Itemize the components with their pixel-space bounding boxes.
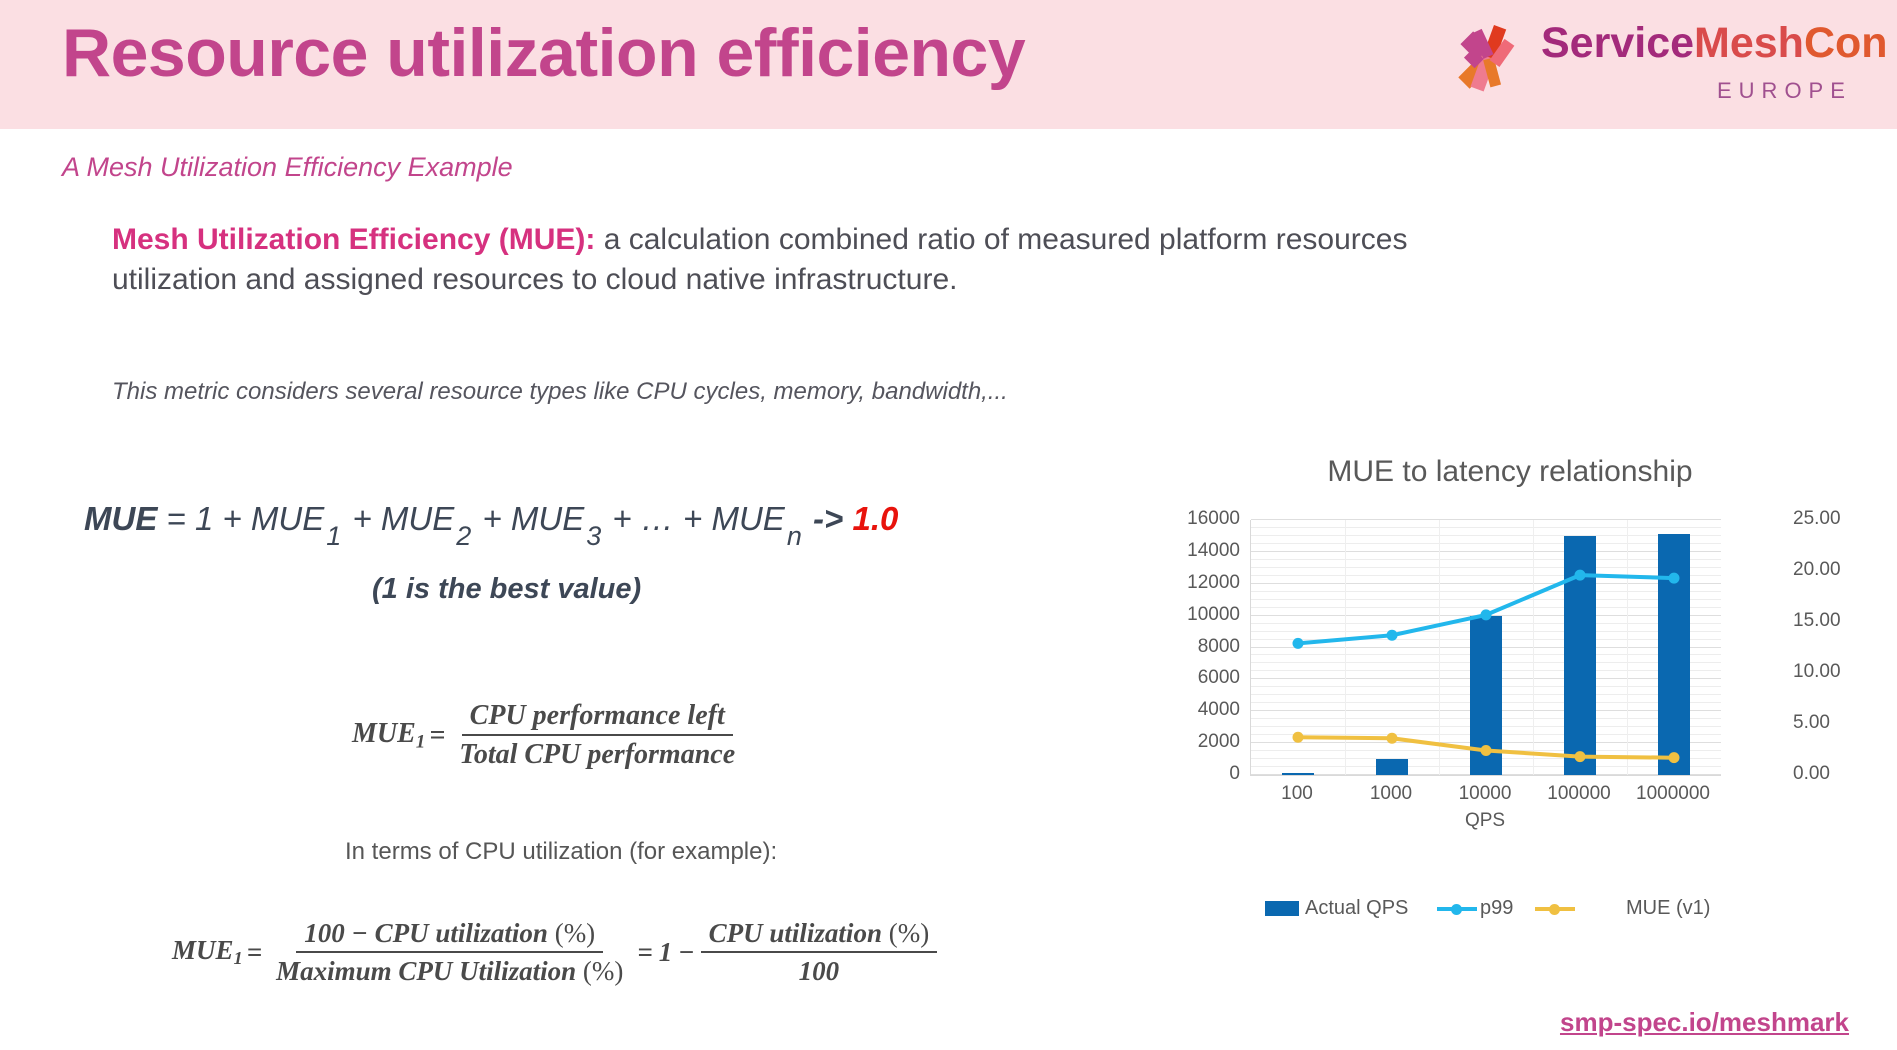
eq-util-fraction-2: CPU utilization (%) 100 xyxy=(701,918,938,987)
legend-label-p99: p99 xyxy=(1480,897,1513,920)
formula-eq: = 1 + xyxy=(157,500,251,537)
chart-y-left-tick: 0 xyxy=(1130,763,1240,785)
chart-data-point xyxy=(1387,630,1398,641)
chart-data-point xyxy=(1669,752,1680,763)
chart-y-right-tick: 10.00 xyxy=(1793,661,1883,683)
legend-line-swatch-p99-icon xyxy=(1437,902,1477,916)
slide-subtitle: A Mesh Utilization Efficiency Example xyxy=(62,152,513,183)
logo-word-mesh: Mesh xyxy=(1694,19,1804,67)
chart-plot-area xyxy=(1250,520,1721,776)
servicemeshcon-logo: ServiceMeshCon EUROPE xyxy=(1437,10,1857,116)
logo-word-con: Con xyxy=(1804,19,1888,67)
chart-data-point xyxy=(1293,638,1304,649)
chart-y-left-tick: 4000 xyxy=(1130,699,1240,721)
chart-data-point xyxy=(1387,733,1398,744)
logo-word-service: Service xyxy=(1541,19,1694,67)
eq-util-equals-2: = xyxy=(637,937,652,968)
best-value-note: (1 is the best value) xyxy=(372,573,641,606)
formula-plus-3: + … + xyxy=(603,500,711,537)
chart-data-point xyxy=(1575,570,1586,581)
formula-term-n: MUE xyxy=(711,500,784,537)
chart-y-left-tick: 12000 xyxy=(1130,572,1240,594)
legend-line-swatch-mue-icon xyxy=(1535,902,1575,916)
chart-y-right-tick: 15.00 xyxy=(1793,610,1883,632)
eq-util-fraction-1: 100 − CPU utilization (%) Maximum CPU Ut… xyxy=(268,918,631,987)
metric-note: This metric considers several resource t… xyxy=(112,378,1412,406)
eq-cpu-lhs: MUE1 xyxy=(352,718,425,753)
eq-util-equals-1: = xyxy=(247,937,262,968)
chart-x-axis-title: QPS xyxy=(1250,810,1720,832)
chart-y-right-tick: 25.00 xyxy=(1793,508,1883,530)
formula-sub-3: 3 xyxy=(584,521,603,552)
mue1-cpu-performance-equation: MUE1 = CPU performance left Total CPU pe… xyxy=(352,700,749,771)
logo-subtitle: EUROPE xyxy=(1717,78,1852,104)
chart-y-left-tick: 10000 xyxy=(1130,604,1240,626)
eq-util-denominator-1: Maximum CPU Utilization (%) xyxy=(268,953,631,987)
chart-y-left-tick: 16000 xyxy=(1130,508,1240,530)
chart-x-tick: 1000000 xyxy=(1613,783,1733,805)
eq-cpu-equals: = xyxy=(429,720,445,752)
formula-term-1: MUE xyxy=(251,500,324,537)
eq-cpu-denominator: Total CPU performance xyxy=(451,736,743,771)
logo-wordmark: ServiceMeshCon xyxy=(1541,22,1888,65)
formula-plus-1: + xyxy=(343,500,381,537)
formula-term-2: MUE xyxy=(381,500,454,537)
mue-definition-label: Mesh Utilization Efficiency (MUE): xyxy=(112,223,595,256)
chart-line-p99 xyxy=(1298,575,1674,643)
eq-util-numerator-1: 100 − CPU utilization (%) xyxy=(296,918,603,953)
chart-y-left-tick: 6000 xyxy=(1130,667,1240,689)
eq-util-denominator-2: 100 xyxy=(791,953,848,987)
formula-sub-1: 1 xyxy=(324,521,343,552)
chart-y-left-tick: 2000 xyxy=(1130,731,1240,753)
chart-data-point xyxy=(1293,732,1304,743)
chart-title: MUE to latency relationship xyxy=(1125,455,1895,489)
legend-bar-swatch-icon xyxy=(1265,901,1299,916)
mue1-cpu-utilization-equation: MUE1 = 100 − CPU utilization (%) Maximum… xyxy=(172,918,943,987)
legend-item-actual-qps[interactable]: Actual QPS xyxy=(1265,897,1408,920)
eq-util-lhs: MUE1 xyxy=(172,935,243,969)
eq-util-one: 1 xyxy=(659,937,673,968)
formula-lhs: MUE xyxy=(84,500,157,537)
chart-y-right-tick: 5.00 xyxy=(1793,712,1883,734)
chart-y-right-tick: 20.00 xyxy=(1793,559,1883,581)
legend-label-mue-v1: MUE (v1) xyxy=(1626,897,1710,920)
formula-plus-2: + xyxy=(473,500,511,537)
diamond-cluster-icon xyxy=(1445,16,1531,102)
legend-label-actual-qps: Actual QPS xyxy=(1305,897,1408,920)
eq-util-numerator-2: CPU utilization (%) xyxy=(701,918,938,953)
formula-arrow: -> xyxy=(804,500,853,537)
chart-y-left-tick: 8000 xyxy=(1130,636,1240,658)
meshmark-link[interactable]: smp-spec.io/meshmark xyxy=(1560,1007,1849,1038)
chart-data-point xyxy=(1669,573,1680,584)
formula-sub-n: n xyxy=(785,521,804,552)
eq-util-minus: − xyxy=(678,937,694,968)
mue-sum-formula: MUE = 1 + MUE1 + MUE2 + MUE3 + … + MUEn … xyxy=(84,500,898,552)
chart-data-point xyxy=(1481,745,1492,756)
formula-sub-2: 2 xyxy=(454,521,473,552)
formula-term-3: MUE xyxy=(511,500,584,537)
eq-cpu-numerator: CPU performance left xyxy=(462,700,733,736)
chart-data-point xyxy=(1481,609,1492,620)
legend-item-p99[interactable]: p99 xyxy=(1437,897,1513,920)
chart-y-right-tick: 0.00 xyxy=(1793,763,1883,785)
formula-limit-value: 1.0 xyxy=(852,500,898,537)
legend-item-mue-v1[interactable]: MUE (v1) xyxy=(1535,897,1710,920)
mue-latency-chart: MUE to latency relationship 020004000600… xyxy=(1125,455,1895,965)
in-terms-of-cpu-text: In terms of CPU utilization (for example… xyxy=(345,838,777,866)
mue-definition-paragraph: Mesh Utilization Efficiency (MUE): a cal… xyxy=(112,220,1452,299)
chart-y-left-tick: 14000 xyxy=(1130,540,1240,562)
chart-data-point xyxy=(1575,751,1586,762)
eq-cpu-fraction: CPU performance left Total CPU performan… xyxy=(451,700,743,771)
page-title: Resource utilization efficiency xyxy=(62,14,1025,92)
chart-line-layer xyxy=(1251,520,1721,775)
